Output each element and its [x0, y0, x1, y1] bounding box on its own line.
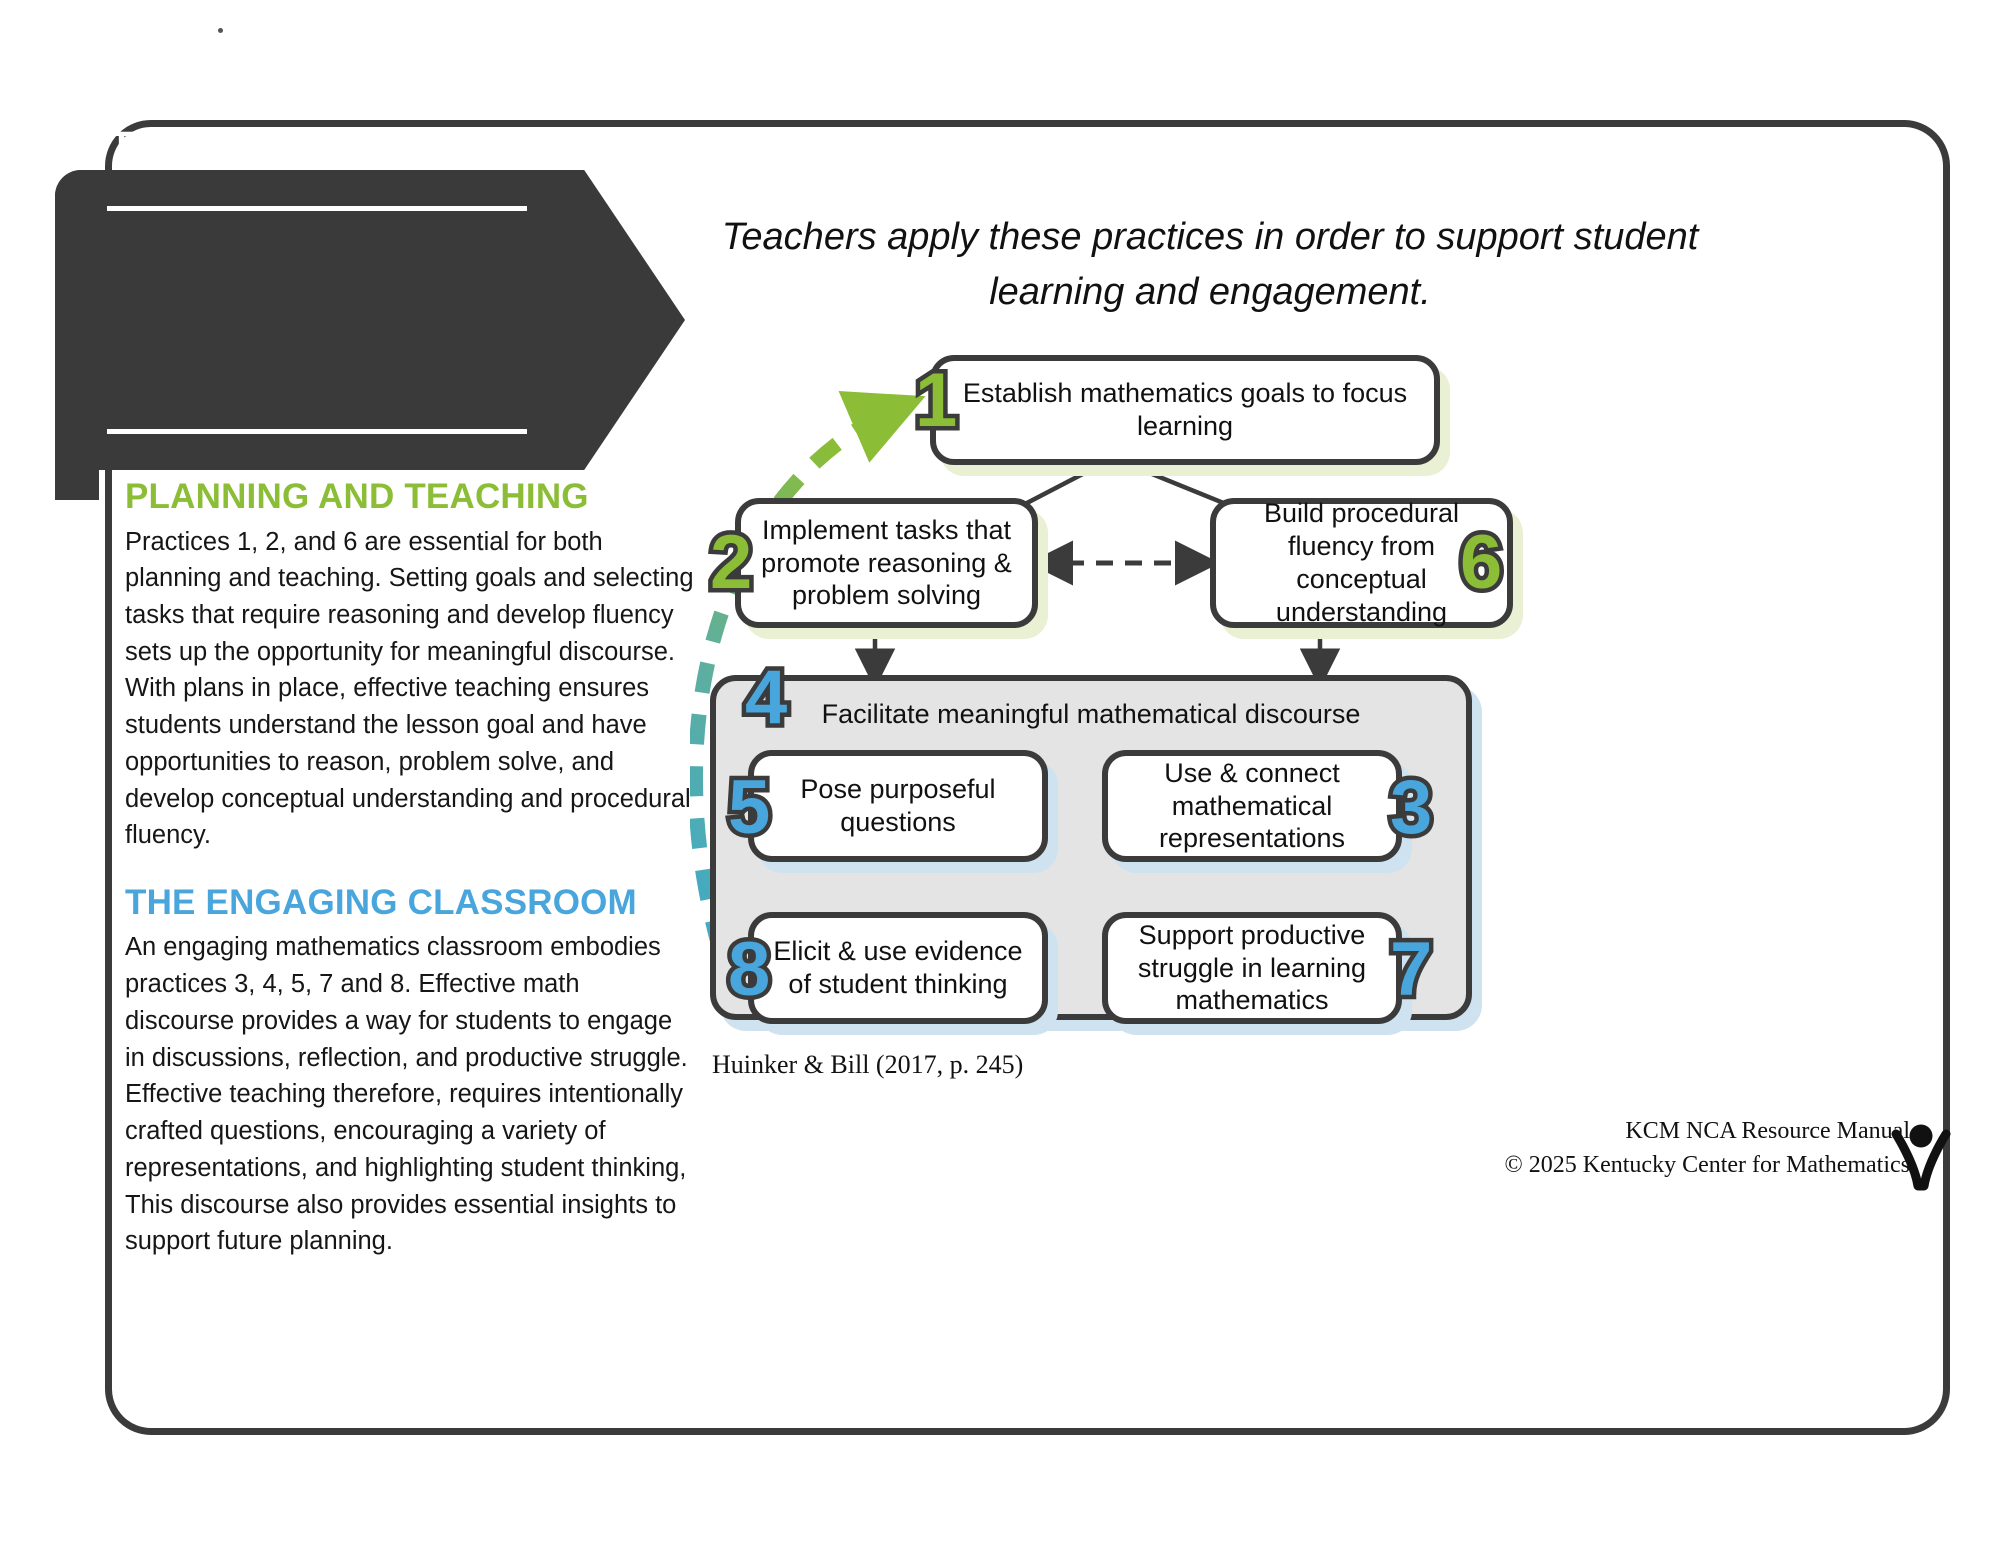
title-line-1: THE EFFECTIVE MATH: [110, 66, 580, 120]
banner-rule-top: [107, 206, 527, 211]
practice-4-label: Facilitate meaningful mathematical disco…: [716, 699, 1466, 730]
practice-number-1: 1: [915, 363, 957, 439]
title-line-2: TEACHING PRACTICES: [110, 120, 580, 174]
practice-number-7: 7: [1390, 932, 1432, 1008]
practice-box-8[interactable]: Elicit & use evidence of student thinkin…: [748, 912, 1048, 1024]
citation: Huinker & Bill (2017, p. 245): [712, 1050, 1023, 1080]
section-body-planning: Practices 1, 2, and 6 are essential for …: [125, 524, 695, 854]
left-text-column: PLANNING AND TEACHING Practices 1, 2, an…: [125, 478, 695, 1290]
practice-5-label: Pose purposeful questions: [754, 773, 1042, 839]
practice-7-label: Support productive struggle in learning …: [1108, 919, 1396, 1018]
diagram-subtitle: Teachers apply these practices in order …: [710, 210, 1710, 320]
practice-1-label: Establish mathematics goals to focus lea…: [936, 377, 1434, 443]
practice-number-2: 2: [710, 525, 752, 601]
practice-box-7[interactable]: Support productive struggle in learning …: [1102, 912, 1402, 1024]
title-banner: [55, 170, 685, 470]
kcm-manual-line: KCM NCA Resource Manual: [1505, 1115, 1910, 1149]
practice-number-3: 3: [1390, 770, 1432, 846]
section-heading-engaging: THE ENGAGING CLASSROOM: [125, 884, 695, 923]
practice-number-5: 5: [728, 770, 770, 846]
kcm-copyright-line: © 2025 Kentucky Center for Mathematics: [1505, 1149, 1910, 1183]
practice-box-3[interactable]: Use & connect mathematical representatio…: [1102, 750, 1402, 862]
banner-rule-bottom: [107, 429, 527, 434]
kcm-person-logo: [1890, 1118, 1952, 1198]
scan-speck: [218, 28, 223, 33]
practice-2-label: Implement tasks that promote reasoning &…: [741, 514, 1032, 613]
practice-number-6: 6: [1460, 525, 1502, 601]
practice-box-2[interactable]: Implement tasks that promote reasoning &…: [735, 498, 1038, 628]
practice-number-4: 4: [745, 660, 787, 736]
practice-number-8: 8: [728, 932, 770, 1008]
kcm-attribution: KCM NCA Resource Manual © 2025 Kentucky …: [1505, 1115, 1910, 1182]
emtp-diagram: Teachers apply these practices in order …: [690, 150, 1950, 1440]
section-body-engaging: An engaging mathematics classroom embodi…: [125, 929, 695, 1259]
section-heading-planning: PLANNING AND TEACHING: [125, 478, 695, 517]
practice-box-1[interactable]: Establish mathematics goals to focus lea…: [930, 355, 1440, 465]
practice-8-label: Elicit & use evidence of student thinkin…: [754, 935, 1042, 1001]
practice-box-5[interactable]: Pose purposeful questions: [748, 750, 1048, 862]
practice-3-label: Use & connect mathematical representatio…: [1108, 757, 1396, 856]
